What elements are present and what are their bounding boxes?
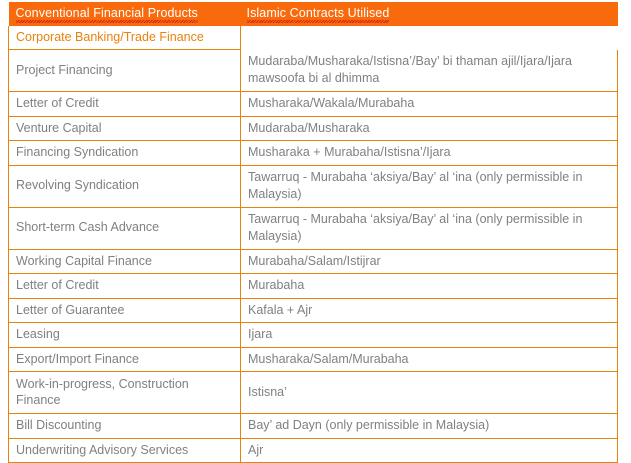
- table-row: Short-term Cash AdvanceTawarruq - Muraba…: [9, 207, 618, 249]
- cell-islamic-contract: Ajr: [241, 438, 618, 463]
- cell-conventional-product: Project Financing: [9, 50, 241, 92]
- table-row: Bill DiscountingBay’ ad Dayn (only permi…: [9, 414, 618, 439]
- table-row: Letter of CreditMurabaha: [9, 274, 618, 299]
- cell-islamic-contract: Tawarruq - Murabaha ‘aksiya/Bay’ al ‘ina…: [241, 207, 618, 249]
- conventional-islamic-contract-table: Conventional Financial Products Islamic …: [8, 2, 618, 463]
- table-row: Export/Import FinanceMusharaka/Salam/Mur…: [9, 347, 618, 372]
- cell-conventional-product: Revolving Syndication: [9, 165, 241, 207]
- table-row: LeasingIjara: [9, 323, 618, 348]
- cell-islamic-contract: Mudaraba/Musharaka/Istisna’/Bay’ bi tham…: [241, 50, 618, 92]
- header-label-islamic-contracts-utilised: Islamic Contracts Utilised: [247, 6, 390, 21]
- cell-conventional-product: Letter of Credit: [9, 92, 241, 117]
- contract-table-container: Conventional Financial Products Islamic …: [8, 2, 617, 463]
- table-body: Conventional Financial Products Islamic …: [9, 2, 618, 463]
- cell-conventional-product: Letter of Guarantee: [9, 298, 241, 323]
- table-row: Financing SyndicationMusharaka + Murabah…: [9, 141, 618, 166]
- cell-islamic-contract: Kafala + Ajr: [241, 298, 618, 323]
- header-cell-islamic-contracts-utilised: Islamic Contracts Utilised: [241, 2, 618, 26]
- header-label-conventional-financial-products: Conventional Financial Products: [16, 6, 198, 21]
- cell-conventional-product: Venture Capital: [9, 116, 241, 141]
- table-row: Letter of GuaranteeKafala + Ajr: [9, 298, 618, 323]
- table-row: Underwriting Advisory ServicesAjr: [9, 438, 618, 463]
- cell-islamic-contract: Tawarruq - Murabaha ‘aksiya/Bay’ al ‘ina…: [241, 165, 618, 207]
- table-row: Revolving SyndicationTawarruq - Murabaha…: [9, 165, 618, 207]
- section-empty-cell: [241, 26, 618, 50]
- cell-islamic-contract: Mudaraba/Musharaka: [241, 116, 618, 141]
- table-row: Project FinancingMudaraba/Musharaka/Isti…: [9, 50, 618, 92]
- cell-islamic-contract: Istisna’: [241, 372, 618, 414]
- cell-islamic-contract: Musharaka/Wakala/Murabaha: [241, 92, 618, 117]
- table-row: Working Capital FinanceMurabaha/Salam/Is…: [9, 249, 618, 274]
- cell-islamic-contract: Musharaka/Salam/Murabaha: [241, 347, 618, 372]
- cell-conventional-product: Export/Import Finance: [9, 347, 241, 372]
- cell-islamic-contract: Murabaha: [241, 274, 618, 299]
- table-row: Work-in-progress, Construction FinanceIs…: [9, 372, 618, 414]
- table-header-row: Conventional Financial Products Islamic …: [9, 2, 618, 26]
- cell-conventional-product: Bill Discounting: [9, 414, 241, 439]
- cell-conventional-product: Underwriting Advisory Services: [9, 438, 241, 463]
- cell-islamic-contract: Bay’ ad Dayn (only permissible in Malays…: [241, 414, 618, 439]
- cell-islamic-contract: Murabaha/Salam/Istijrar: [241, 249, 618, 274]
- table-row: Venture CapitalMudaraba/Musharaka: [9, 116, 618, 141]
- cell-conventional-product: Letter of Credit: [9, 274, 241, 299]
- cell-conventional-product: Work-in-progress, Construction Finance: [9, 372, 241, 414]
- header-cell-conventional-financial-products: Conventional Financial Products: [9, 2, 241, 26]
- section-label-corporate-banking-trade-finance: Corporate Banking/Trade Finance: [9, 26, 241, 50]
- cell-conventional-product: Short-term Cash Advance: [9, 207, 241, 249]
- section-header-row: Corporate Banking/Trade Finance: [9, 26, 618, 50]
- cell-conventional-product: Leasing: [9, 323, 241, 348]
- cell-islamic-contract: Ijara: [241, 323, 618, 348]
- cell-conventional-product: Working Capital Finance: [9, 249, 241, 274]
- table-row: Letter of CreditMusharaka/Wakala/Murabah…: [9, 92, 618, 117]
- cell-islamic-contract: Musharaka + Murabaha/Istisna’/Ijara: [241, 141, 618, 166]
- cell-conventional-product: Financing Syndication: [9, 141, 241, 166]
